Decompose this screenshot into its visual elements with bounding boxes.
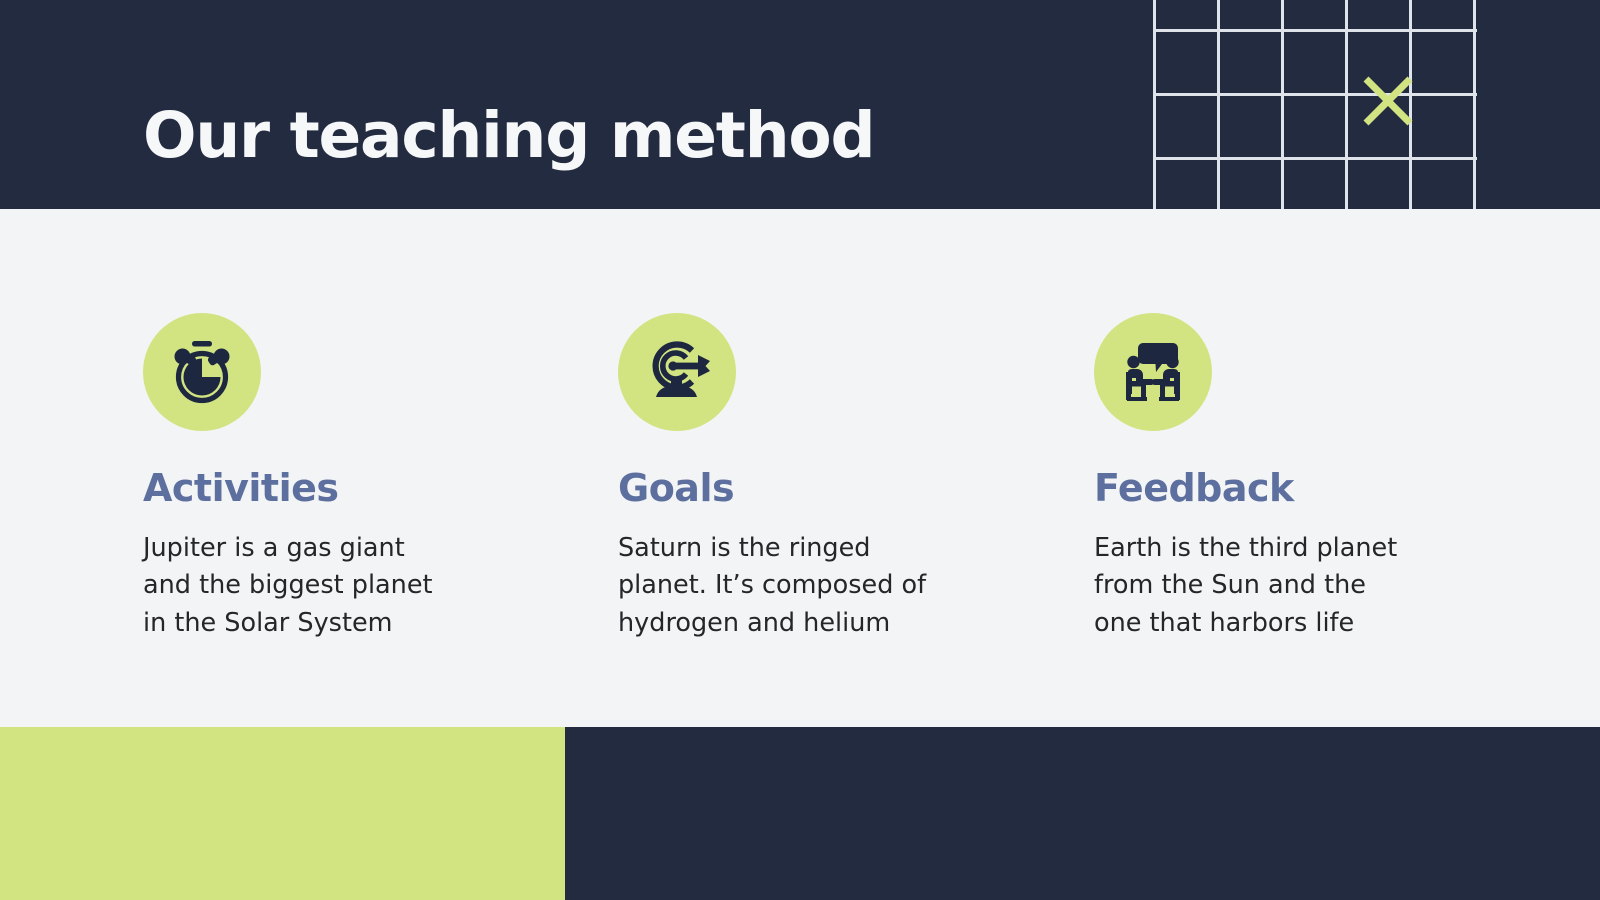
feature-column-activities: Activities Jupiter is a gas giant and th… [143,313,543,642]
target-arrow-icon [618,313,736,431]
feature-column-goals: Goals Saturn is the ringed planet. It’s … [618,313,1018,642]
footer-dark-block [565,727,1600,900]
feature-columns: Activities Jupiter is a gas giant and th… [0,209,1600,727]
feature-heading: Goals [618,469,1018,507]
feature-heading: Activities [143,469,543,507]
footer-accent-block [0,727,565,900]
feature-body-text: Jupiter is a gas giant and the biggest p… [143,530,483,642]
slide-header: Our teaching method [0,0,1600,209]
page-title: Our teaching method [143,104,874,167]
slide: Our teaching method [0,0,1600,900]
feature-body-text: Earth is the third planet from the Sun a… [1094,530,1444,642]
slide-footer [0,727,1600,900]
people-discussion-icon [1094,313,1212,431]
grid-lines-decoration [1153,0,1477,209]
feature-column-feedback: Feedback Earth is the third planet from … [1094,313,1494,642]
stopwatch-icon [143,313,261,431]
feature-heading: Feedback [1094,469,1494,507]
feature-body-text: Saturn is the ringed planet. It’s compos… [618,530,958,642]
